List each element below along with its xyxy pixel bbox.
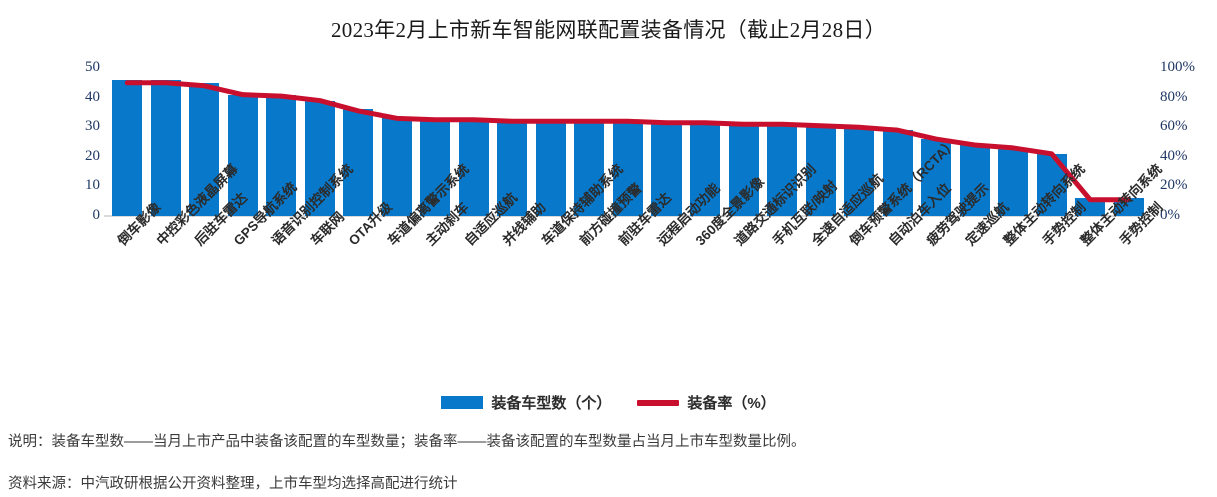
bar-22: [960, 145, 990, 216]
legend-label-line: 装备率（%）: [687, 392, 775, 413]
y-tick-left-50: 50: [40, 59, 100, 76]
note-source: 资料来源：中汽政研根据公开资料整理，上市车型均选择高配进行统计: [8, 472, 458, 493]
bar-3: [228, 95, 258, 216]
bar-19: [844, 127, 874, 216]
bar-26: [1114, 198, 1144, 216]
bar-18: [806, 124, 836, 216]
note-explanation: 说明：装备车型数——当月上市产品中装备该配置的车型数量；装备率——装备该配置的车…: [8, 430, 806, 451]
y-tick-right-0: 0%: [1160, 207, 1217, 224]
bar-11: [536, 121, 566, 216]
legend-item-bar: 装备车型数（个）: [441, 392, 611, 413]
bar-16: [729, 124, 759, 216]
legend-item-line: 装备率（%）: [637, 392, 775, 413]
bar-8: [420, 118, 450, 216]
bar-2: [189, 83, 219, 216]
bar-5: [305, 101, 335, 216]
bar-15: [690, 121, 720, 216]
y-tick-right-100: 100%: [1160, 59, 1217, 76]
bar-10: [497, 121, 527, 216]
chart-root: 2023年2月上市新车智能网联配置装备情况（截止2月28日） 010203040…: [0, 0, 1217, 497]
legend-swatch-bar-icon: [441, 396, 483, 409]
bar-0: [112, 80, 142, 216]
page-title: 2023年2月上市新车智能网联配置装备情况（截止2月28日）: [0, 14, 1217, 44]
bar-21: [921, 139, 951, 216]
y-tick-right-80: 80%: [1160, 89, 1217, 106]
bar-20: [883, 130, 913, 216]
y-tick-right-20: 20%: [1160, 177, 1217, 194]
y-tick-right-60: 60%: [1160, 118, 1217, 135]
y-tick-left-10: 10: [40, 177, 100, 194]
bar-25: [1075, 198, 1105, 216]
bar-4: [266, 95, 296, 216]
chart-legend: 装备车型数（个） 装备率（%）: [0, 392, 1217, 413]
bar-14: [651, 121, 681, 216]
bar-7: [382, 118, 412, 216]
y-tick-left-40: 40: [40, 89, 100, 106]
bar-24: [1037, 154, 1067, 216]
legend-label-bar: 装备车型数（个）: [491, 392, 611, 413]
bar-13: [613, 121, 643, 216]
y-tick-left-20: 20: [40, 148, 100, 165]
bar-17: [767, 124, 797, 216]
bar-1: [151, 80, 181, 216]
bar-12: [574, 121, 604, 216]
y-tick-right-40: 40%: [1160, 148, 1217, 165]
y-tick-left-0: 0: [40, 207, 100, 224]
bar-23: [998, 148, 1028, 216]
legend-swatch-line-icon: [637, 400, 679, 406]
bar-9: [459, 118, 489, 216]
plot-area: [108, 68, 1148, 216]
y-tick-left-30: 30: [40, 118, 100, 135]
bar-6: [343, 109, 373, 216]
